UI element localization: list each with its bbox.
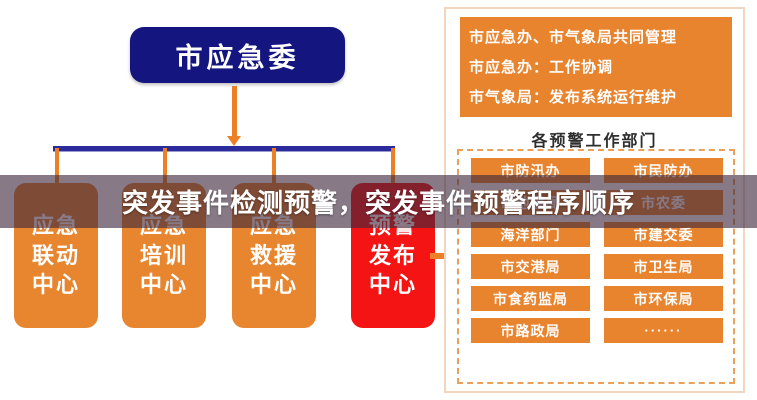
- section-title: 各预警工作部门: [446, 127, 743, 151]
- panel-header-line-2: 市应急办：工作协调: [469, 56, 732, 77]
- panel-header-line-3: 市气象局：发布系统运行维护: [469, 86, 732, 107]
- center-box-line3: 中心: [140, 270, 188, 300]
- center-box-line2: 救援: [250, 241, 298, 271]
- dept-box: 市卫生局: [604, 254, 723, 279]
- center-box-line3: 中心: [250, 270, 298, 300]
- caption-text: 突发事件检测预警，突发事件预警程序顺序: [122, 183, 635, 220]
- center-box-line3: 中心: [369, 270, 417, 300]
- arrow-down-icon: [232, 86, 237, 138]
- dept-box: 市环保局: [604, 286, 723, 311]
- top-node-city-emergency-committee: 市应急委: [130, 27, 345, 83]
- caption-overlay-band: 突发事件检测预警，突发事件预警程序顺序: [0, 175, 757, 228]
- center-box-line2: 联动: [32, 241, 80, 271]
- dept-box-ellipsis: ······: [604, 318, 723, 343]
- dept-box: 市路政局: [471, 318, 590, 343]
- center-box-line2: 培训: [140, 241, 188, 271]
- diagram-canvas: 市应急委 应急 联动 中心 应急 培训 中心 应急 救援 中心 预警 发布 中心…: [0, 0, 757, 400]
- center-box-line3: 中心: [32, 270, 80, 300]
- top-node-label: 市应急委: [176, 36, 300, 75]
- horizontal-bus-connector: [53, 146, 395, 152]
- center-box-line2: 发布: [369, 241, 417, 271]
- panel-header-box: 市应急办、市气象局共同管理 市应急办：工作协调 市气象局：发布系统运行维护: [460, 17, 732, 117]
- dept-box: 市交港局: [471, 254, 590, 279]
- dept-box: 市食药监局: [471, 286, 590, 311]
- panel-header-line-1: 市应急办、市气象局共同管理: [469, 26, 732, 47]
